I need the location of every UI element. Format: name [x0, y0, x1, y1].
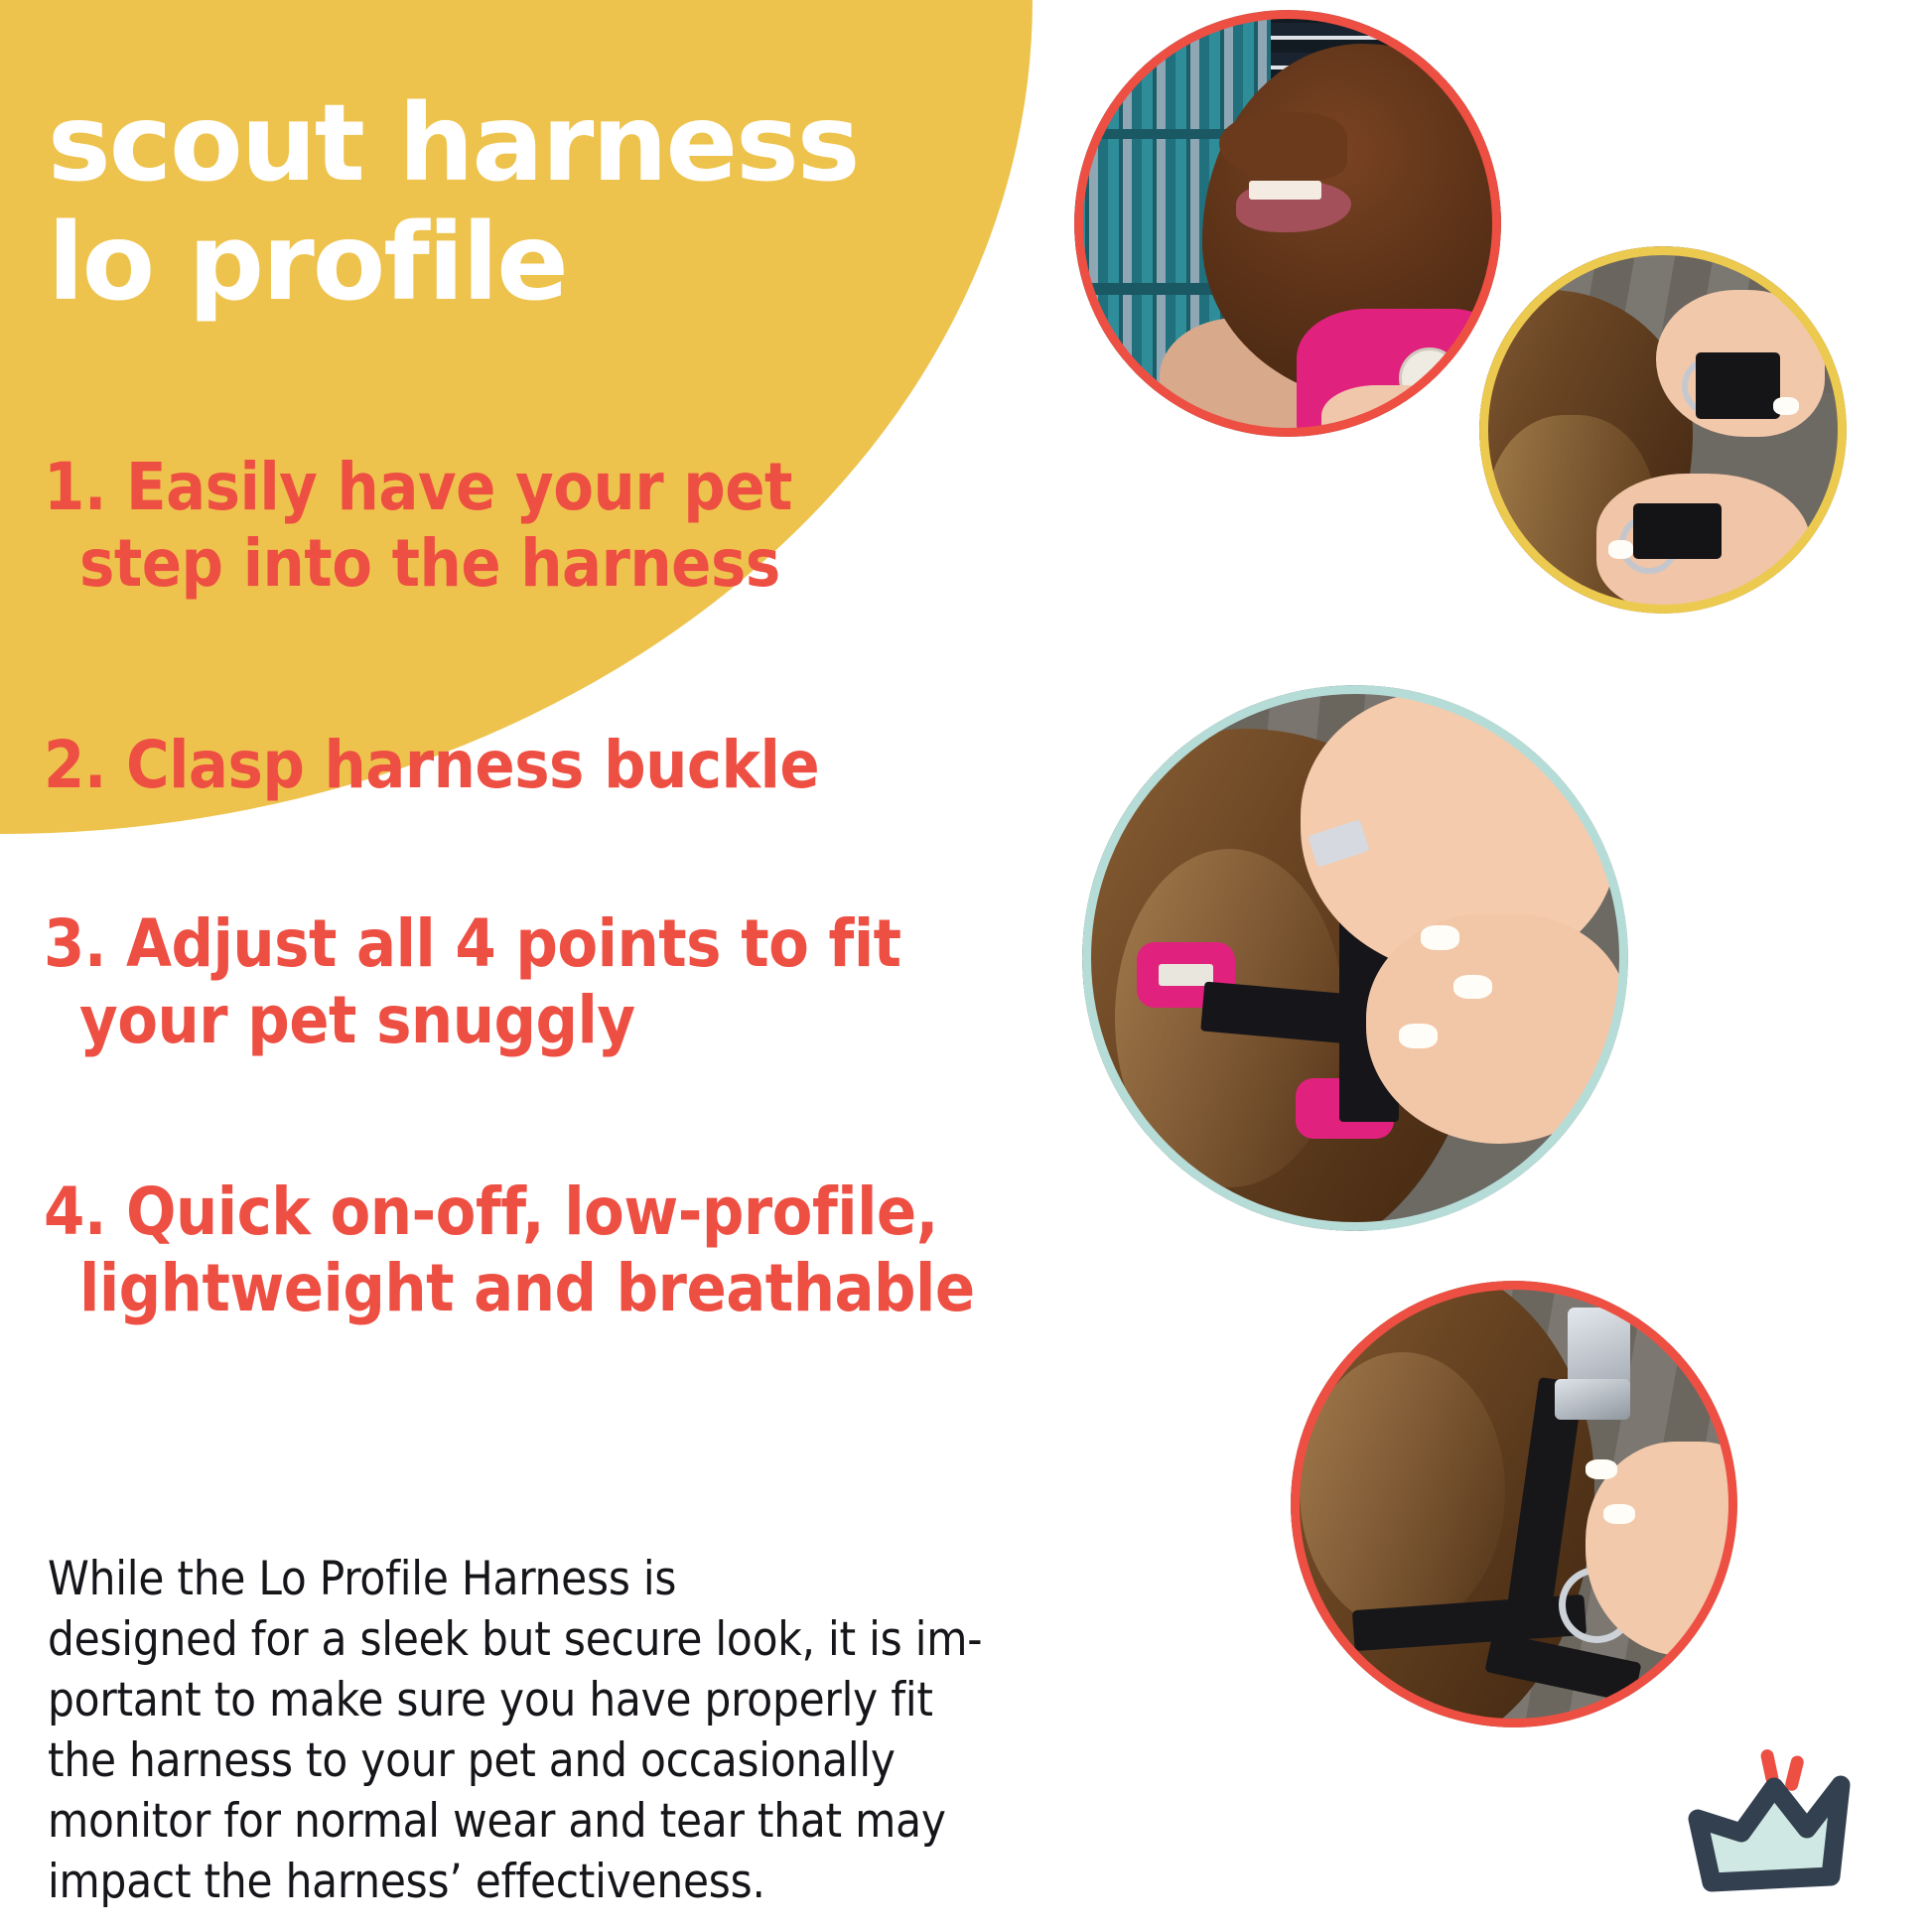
- step-3-line-1: 3. Adjust all 4 points to fit: [44, 905, 1036, 982]
- step-1-line-2: step into the harness: [44, 525, 1036, 602]
- step-3-line-2: your pet snuggly: [44, 982, 1036, 1058]
- leash-clip-latch: [1555, 1379, 1631, 1420]
- footnote-paragraph: While the Lo Profile Harness is designed…: [48, 1549, 1050, 1913]
- photo-2-scene: [1479, 246, 1847, 614]
- content-column: scout harness lo profile 1. Easily have …: [0, 0, 1052, 1932]
- step-4-line-1: 4. Quick on-off, low-profile,: [44, 1173, 1036, 1250]
- buckle-female: [1696, 352, 1780, 419]
- footnote-line-5: monitor for normal wear and tear that ma…: [48, 1791, 1050, 1852]
- step-1-line-1: 1. Easily have your pet: [44, 449, 1036, 525]
- step-2-line-1: 2. Clasp harness buckle: [44, 727, 1036, 803]
- step-item-4: 4. Quick on-off, low-profile, lightweigh…: [44, 1173, 1036, 1326]
- owner-hand: [1321, 385, 1458, 437]
- photo-3-scene: [1082, 685, 1628, 1231]
- title-line-2: lo profile: [48, 205, 991, 324]
- footnote-line-1: While the Lo Profile Harness is: [48, 1549, 1050, 1609]
- photo-adjust-strap: [1082, 685, 1628, 1231]
- fingernail: [1603, 1504, 1635, 1524]
- step-4-line-2: lightweight and breathable: [44, 1250, 1036, 1326]
- photo-1-scene: [1074, 10, 1501, 437]
- crown-logo: [1682, 1747, 1861, 1896]
- footnote-line-3: portant to make sure you have properly f…: [48, 1670, 1050, 1730]
- step-item-2: 2. Clasp harness buckle: [44, 727, 1036, 803]
- photo-4-scene: [1291, 1281, 1737, 1727]
- fingernail: [1773, 397, 1799, 416]
- photo-leash-clip: [1291, 1281, 1737, 1727]
- dog-fur-highlight: [1300, 1352, 1505, 1629]
- footnote-line-2: designed for a sleek but secure look, it…: [48, 1609, 1050, 1670]
- step-item-1: 1. Easily have your pet step into the ha…: [44, 449, 1036, 602]
- footnote-line-4: the harness to your pet and occasionally: [48, 1730, 1050, 1791]
- fingernail: [1586, 1459, 1617, 1479]
- footnote-line-6: impact the harness’ effectiveness.: [48, 1852, 1050, 1912]
- fingernail: [1399, 1024, 1438, 1048]
- dog-teeth: [1249, 181, 1321, 200]
- step-item-3: 3. Adjust all 4 points to fit your pet s…: [44, 905, 1036, 1058]
- buckle-male: [1633, 503, 1722, 559]
- fingernail: [1608, 540, 1634, 559]
- fingernail: [1421, 925, 1459, 950]
- title-line-1: scout harness: [48, 85, 991, 205]
- photo-dog-in-harness: [1074, 10, 1501, 437]
- photo-buckle-halves: [1479, 246, 1847, 614]
- page-title: scout harness lo profile: [48, 85, 991, 324]
- fingernail: [1453, 975, 1492, 1000]
